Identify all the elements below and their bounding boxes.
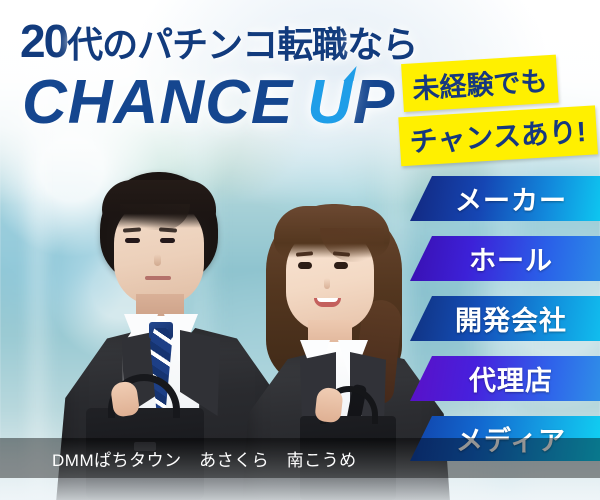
headline-tail: なら — [347, 24, 417, 65]
man-mouth — [145, 276, 171, 280]
experience-badge: 未経験でも チャンスあり! — [401, 52, 600, 166]
woman-nose — [324, 278, 330, 289]
man-eye-left — [125, 238, 140, 243]
category-label-hall: ホール — [457, 239, 553, 278]
logo-letter-p: P — [353, 68, 395, 137]
headline: 20代のパチンコ転職なら — [20, 14, 417, 68]
headline-number: 20 — [20, 15, 67, 67]
category-item-maker[interactable]: メーカー — [410, 176, 600, 221]
credit-bar: DMMぱちタウン あさくら 南こうめ — [0, 438, 600, 478]
category-label-development-company: 開発会社 — [443, 299, 567, 338]
category-item-hall[interactable]: ホール — [410, 236, 600, 281]
badge-line-1: 未経験でも — [401, 55, 559, 112]
woman-eye-right — [334, 262, 348, 269]
logo-word-up: UP — [307, 68, 395, 137]
chance-up-logo: CHANCEUP — [22, 72, 395, 134]
category-item-agency[interactable]: 代理店 — [410, 356, 600, 401]
man-eye-right — [160, 238, 175, 243]
logo-word-chance: CHANCE — [22, 68, 293, 137]
woman-hand — [314, 387, 343, 424]
man-fringe — [102, 180, 216, 228]
logo-letter-u: U — [307, 72, 353, 134]
category-label-maker: メーカー — [443, 179, 567, 218]
category-label-agency: 代理店 — [457, 359, 553, 398]
woman-fringe — [274, 206, 390, 258]
woman-eye-left — [298, 262, 312, 269]
category-list: メーカー ホール 開発会社 代理店 メディア — [410, 176, 600, 461]
recruitment-banner[interactable]: 20代のパチンコ転職なら CHANCEUP 未経験でも チャンスあり! メーカー… — [0, 0, 600, 500]
man-nose — [154, 254, 161, 266]
headline-middle: 代のパチンコ転職 — [67, 24, 347, 65]
credit-text: DMMぱちタウン あさくら 南こうめ — [52, 446, 357, 471]
category-item-development-company[interactable]: 開発会社 — [410, 296, 600, 341]
